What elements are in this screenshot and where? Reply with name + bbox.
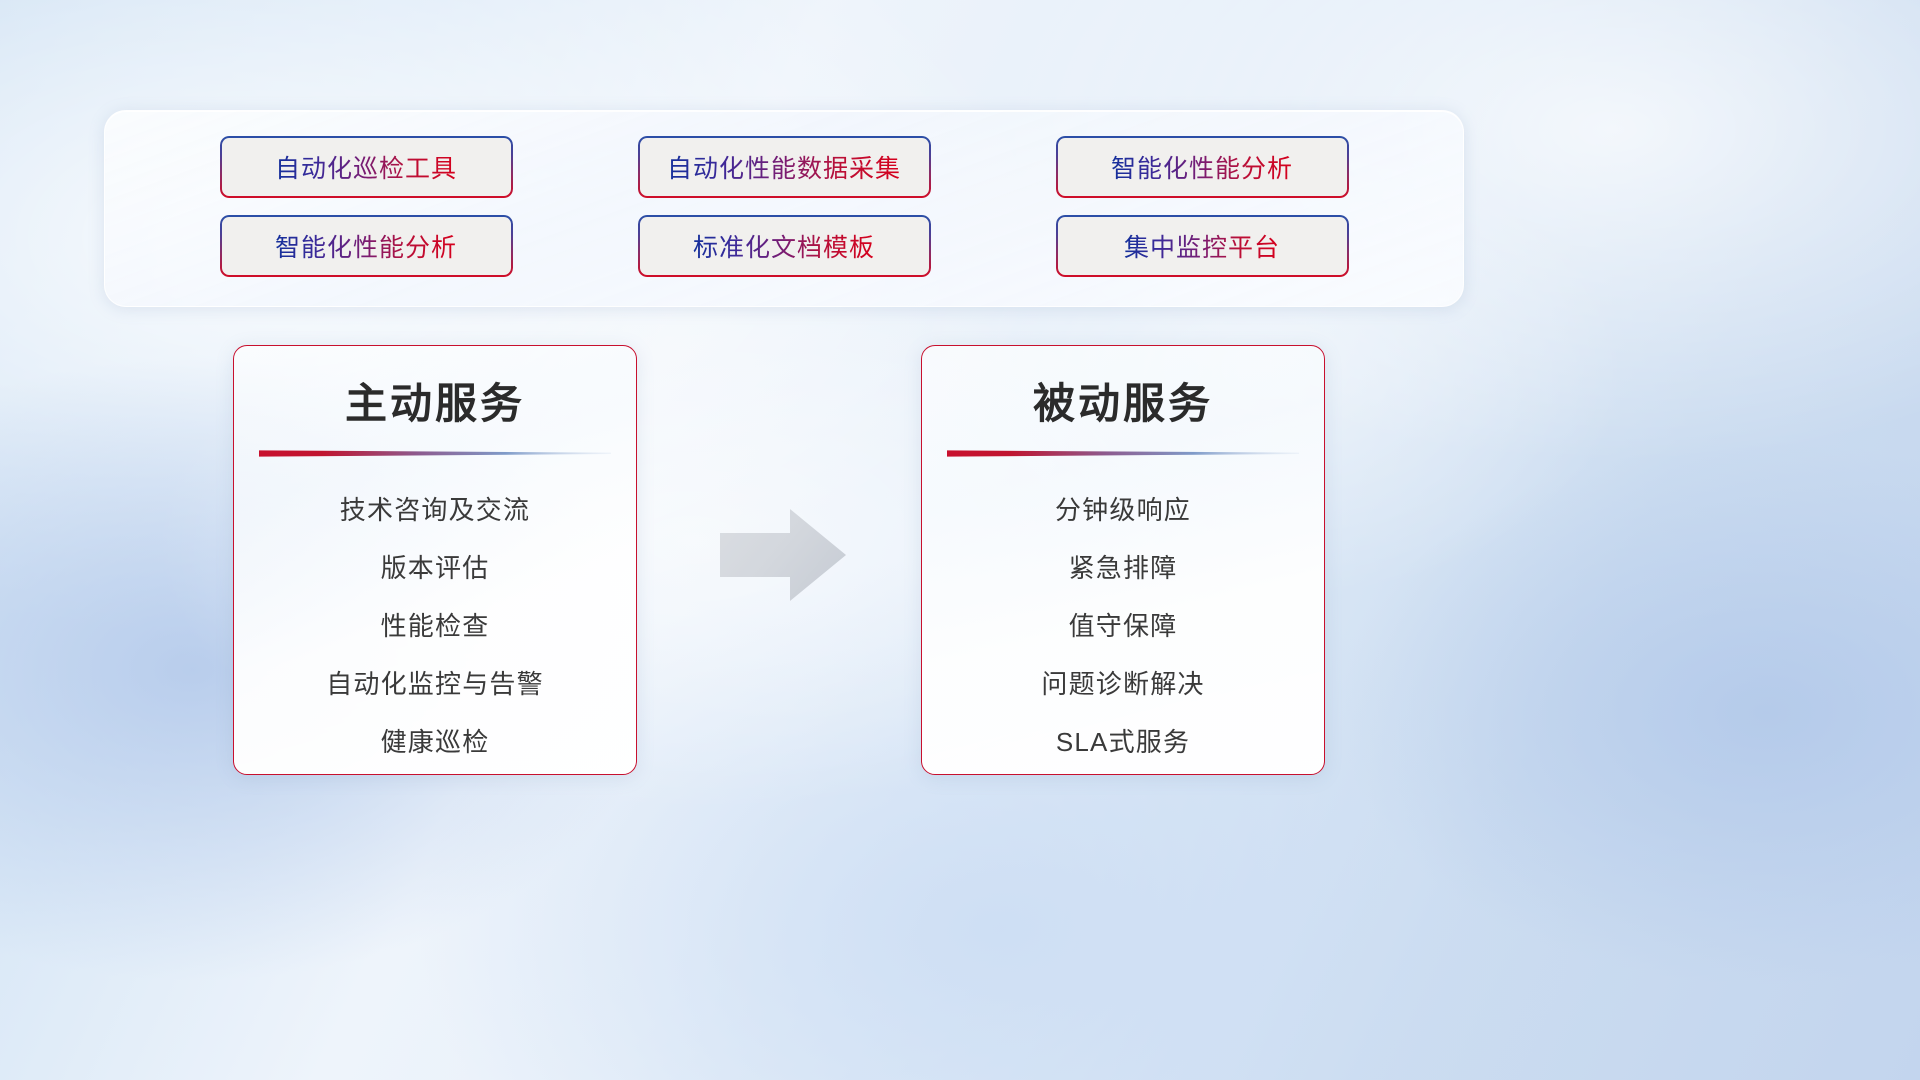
capability-pill-automated-performance-data-collection[interactable]: 自动化性能数据采集 — [638, 136, 931, 198]
capability-pill-intelligent-performance-analysis-bottom[interactable]: 智能化性能分析 — [220, 215, 513, 277]
capability-pill-automated-inspection-tool[interactable]: 自动化巡检工具 — [220, 136, 513, 198]
list-item: 问题诊断解决 — [1041, 655, 1204, 713]
arrow-right-icon — [718, 505, 848, 605]
list-item: 技术咨询及交流 — [340, 481, 530, 539]
capability-pill-intelligent-performance-analysis-top[interactable]: 智能化性能分析 — [1056, 136, 1349, 198]
capability-pill-label: 自动化性能数据采集 — [667, 149, 901, 185]
capability-pill-label: 自动化巡检工具 — [275, 149, 457, 185]
list-item: 值守保障 — [1069, 597, 1178, 655]
card-divider — [947, 447, 1299, 459]
capability-pill-label: 智能化性能分析 — [275, 228, 457, 264]
list-item: 分钟级响应 — [1055, 481, 1191, 539]
list-item: 紧急排障 — [1069, 539, 1178, 597]
list-item: SLA式服务 — [1056, 713, 1190, 771]
list-item: 自动化监控与告警 — [326, 655, 544, 713]
capability-pill-grid: 自动化巡检工具 自动化性能数据采集 智能化性能分析 智能化性能分析 标准化文档模… — [105, 111, 1463, 306]
card-item-list: 技术咨询及交流 版本评估 性能检查 自动化监控与告警 健康巡检 — [234, 481, 636, 771]
card-proactive-service[interactable]: 主动服务 技术咨询及交流 版本评估 性能检查 自动化监控与告警 健康巡检 — [233, 345, 637, 775]
card-divider — [259, 447, 611, 459]
tapered-divider-icon — [259, 447, 611, 459]
list-item: 健康巡检 — [381, 713, 490, 771]
capability-pill-label: 集中监控平台 — [1124, 228, 1280, 264]
flow-arrow — [718, 505, 848, 605]
card-item-list: 分钟级响应 紧急排障 值守保障 问题诊断解决 SLA式服务 — [922, 481, 1324, 771]
capability-panel: 自动化巡检工具 自动化性能数据采集 智能化性能分析 智能化性能分析 标准化文档模… — [104, 110, 1464, 307]
capability-pill-centralized-monitoring-platform[interactable]: 集中监控平台 — [1056, 215, 1349, 277]
list-item: 版本评估 — [381, 539, 490, 597]
card-reactive-service[interactable]: 被动服务 分钟级响应 紧急排障 值守保障 问题诊断解决 SLA式服务 — [921, 345, 1325, 775]
card-title: 被动服务 — [922, 370, 1324, 431]
capability-pill-label: 标准化文档模板 — [693, 228, 875, 264]
card-title: 主动服务 — [234, 370, 636, 431]
tapered-divider-icon — [947, 447, 1299, 459]
capability-pill-standardized-document-template[interactable]: 标准化文档模板 — [638, 215, 931, 277]
list-item: 性能检查 — [381, 597, 490, 655]
capability-pill-label: 智能化性能分析 — [1111, 149, 1293, 185]
